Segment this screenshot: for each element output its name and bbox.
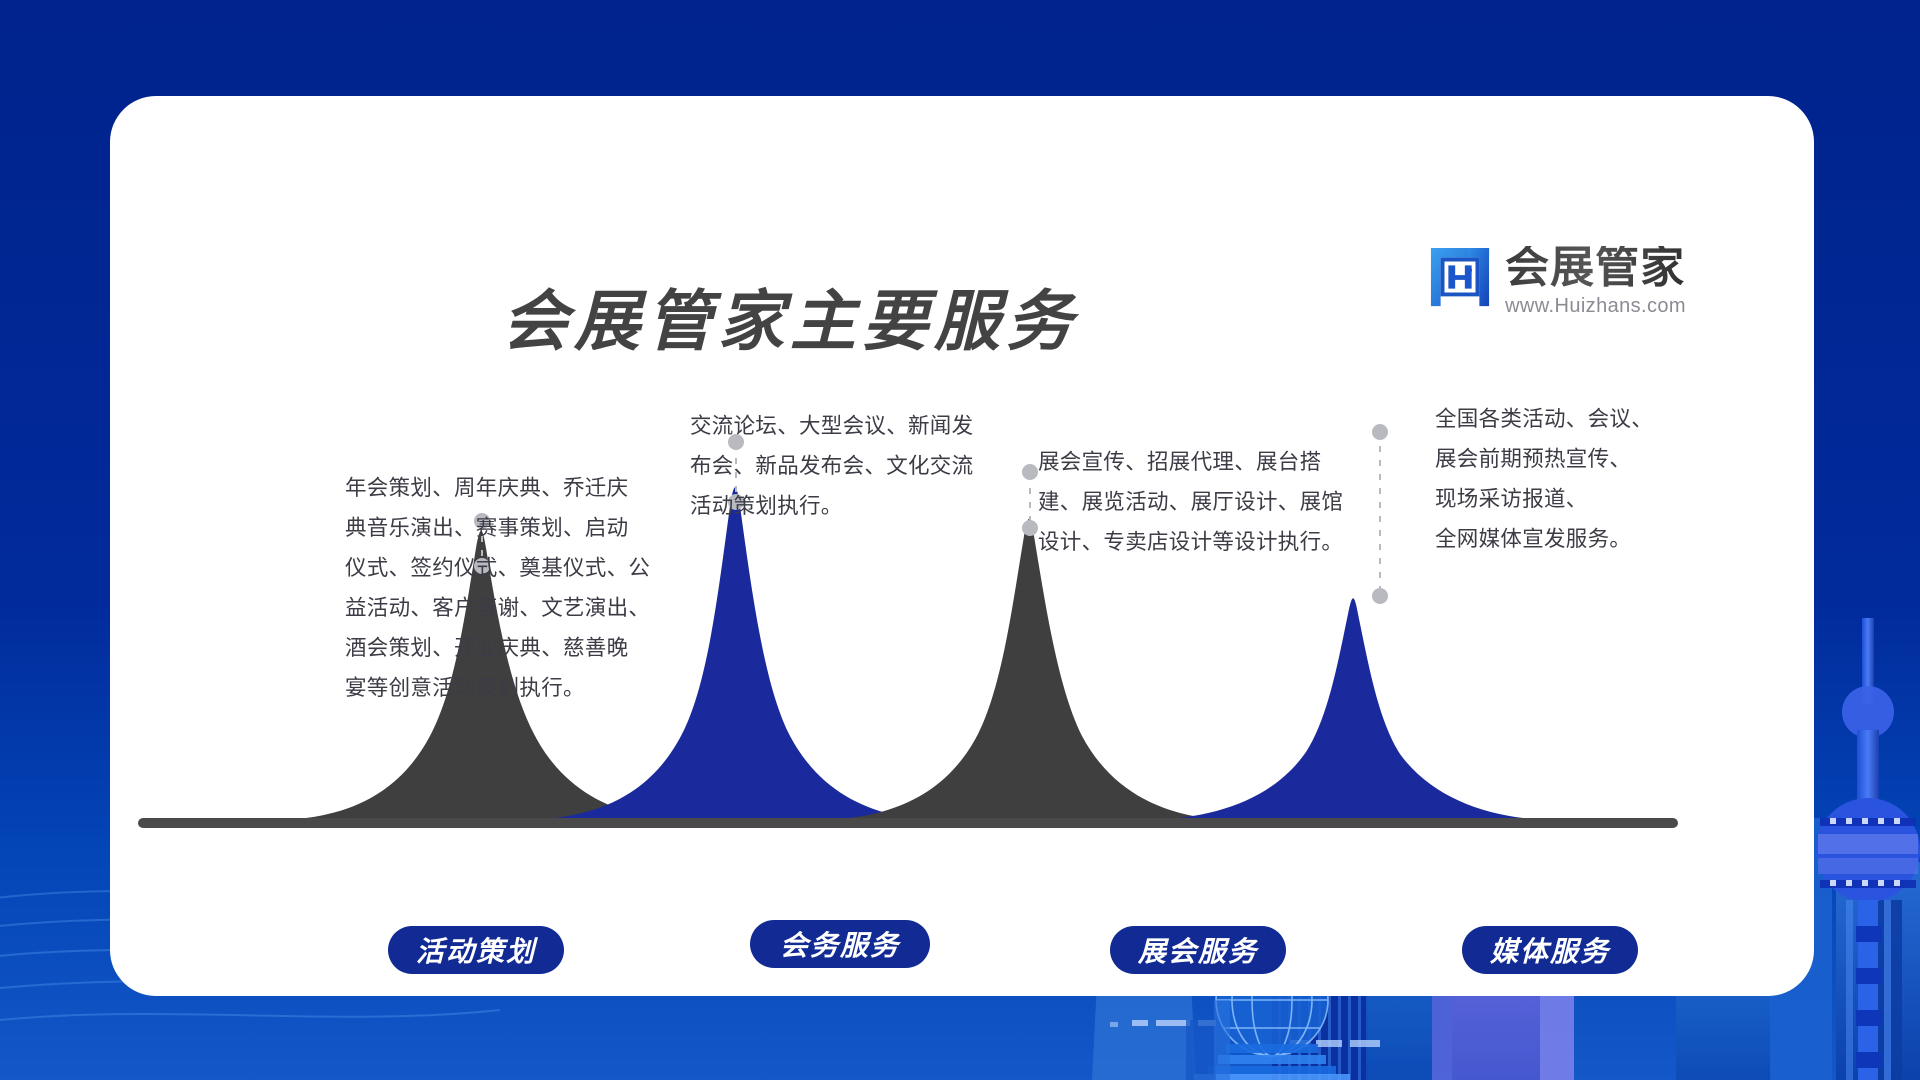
pill-media-service[interactable]: 媒体服务 <box>1462 926 1638 974</box>
page-title: 会展管家主要服务 <box>110 268 1470 364</box>
pill-activity-planning[interactable]: 活动策划 <box>388 926 564 974</box>
connector-dot <box>1022 520 1038 536</box>
connector-dot <box>1372 588 1388 604</box>
connector-dot <box>1022 464 1038 480</box>
logo-name: 会展管家 <box>1505 246 1686 290</box>
pill-exhibition-service[interactable]: 展会服务 <box>1110 926 1286 974</box>
description-activity-planning: 年会策划、周年庆典、乔迁庆 典音乐演出、赛事策划、启动 仪式、签约仪式、奠基仪式… <box>345 468 650 708</box>
peak-exhibition-service <box>822 519 1230 820</box>
connector-dot <box>1372 424 1388 440</box>
description-media-service: 全国各类活动、会议、 展会前期预热宣传、 现场采访报道、 全网媒体宣发服务。 <box>1435 399 1653 559</box>
h-square-logo-icon <box>1429 246 1491 308</box>
brand-logo[interactable]: 会展管家 www.Huizhans.com <box>1429 246 1686 318</box>
pill-conference-service[interactable]: 会务服务 <box>750 920 930 968</box>
main-card: 会展管家主要服务 会展管家 www.Huizhans.com <box>110 96 1814 996</box>
baseline <box>138 818 1678 828</box>
peak-media-service <box>1150 598 1548 820</box>
description-exhibition-service: 展会宣传、招展代理、展台搭 建、展览活动、展厅设计、展馆 设计、专卖店设计等设计… <box>1038 442 1343 562</box>
description-conference-service: 交流论坛、大型会议、新闻发 布会、新品发布会、文化交流 活动策划执行。 <box>690 406 973 526</box>
logo-url: www.Huizhans.com <box>1505 295 1686 318</box>
